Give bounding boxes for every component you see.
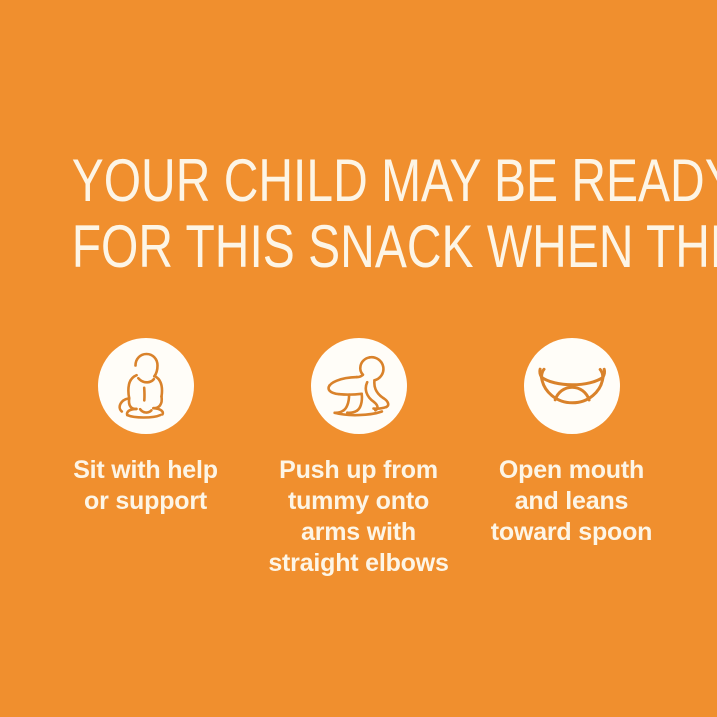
readiness-sign-item: Open mouth and leans toward spoon — [465, 338, 678, 548]
readiness-sign-item: Push up from tummy onto arms with straig… — [252, 338, 465, 579]
readiness-infographic: YOUR CHILD MAY BE READY FOR THIS SNACK W… — [0, 0, 717, 717]
readiness-sign-label: Sit with help or support — [73, 455, 218, 517]
baby-sitting-icon — [98, 338, 194, 434]
baby-tummy-push-up-icon — [311, 338, 407, 434]
open-mouth-icon — [524, 338, 620, 434]
readiness-sign-label: Open mouth and leans toward spoon — [491, 455, 652, 548]
page-title: YOUR CHILD MAY BE READY FOR THIS SNACK W… — [0, 148, 717, 280]
readiness-signs-list: Sit with help or support — [0, 338, 717, 579]
readiness-sign-item: Sit with help or support — [39, 338, 252, 517]
headline-line-2: FOR THIS SNACK WHEN THEY: — [72, 214, 646, 280]
readiness-sign-label: Push up from tummy onto arms with straig… — [268, 455, 448, 579]
headline-line-1: YOUR CHILD MAY BE READY — [72, 148, 646, 214]
